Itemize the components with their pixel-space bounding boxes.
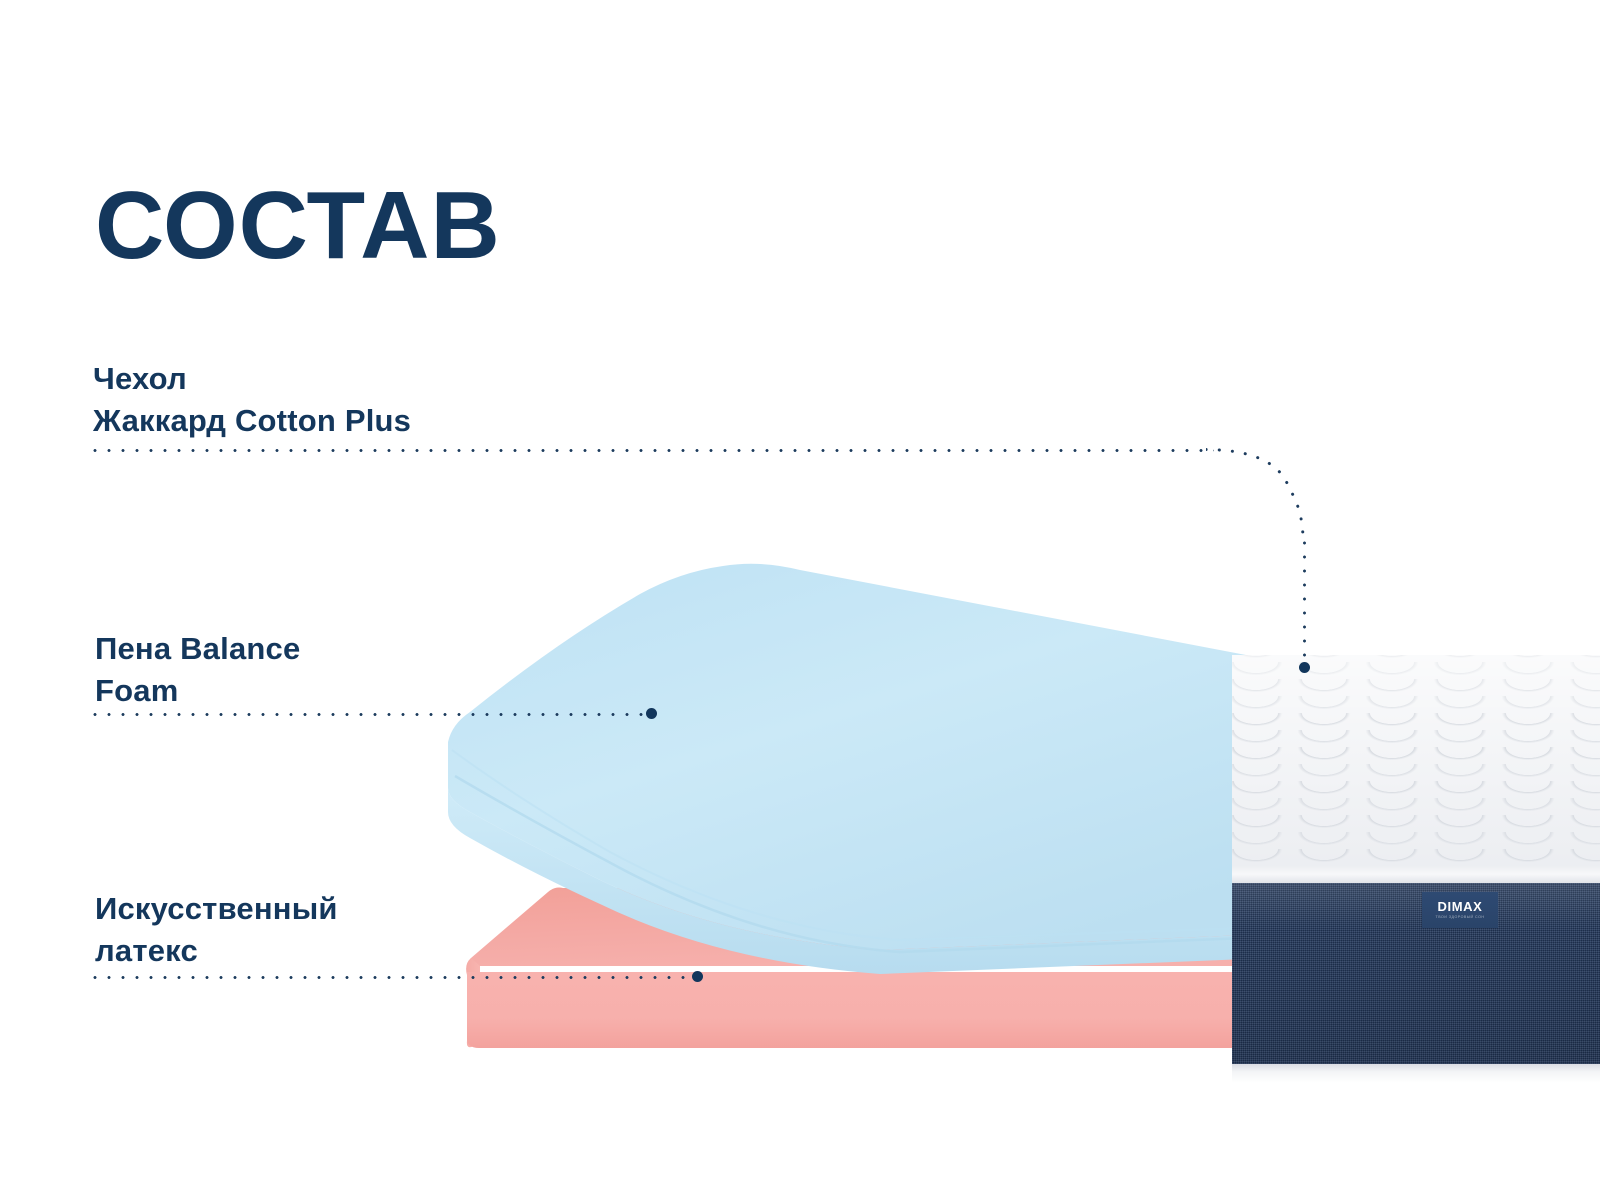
mattress-side-panel: DIMAX ТВОИ ЗДОРОВЫЙ СОН	[1232, 883, 1600, 1066]
cover-piping-top	[1232, 866, 1600, 884]
layer-label-latex: Искусственный латекс	[95, 888, 338, 972]
composition-infographic: СОСТАВ	[0, 0, 1600, 1200]
leader-end-dot-cover	[1299, 662, 1310, 673]
mattress-cover-top	[1232, 655, 1600, 868]
leader-arc-cover	[1206, 448, 1310, 540]
leader-line-cover	[88, 449, 1214, 452]
leader-line-latex	[88, 976, 694, 979]
side-panel-shading	[1232, 883, 1600, 1066]
leader-line-cover-vertical	[1303, 536, 1306, 666]
brand-tagline: ТВОИ ЗДОРОВЫЙ СОН	[1436, 916, 1485, 920]
quilt-shading	[1232, 655, 1600, 868]
mattress-illustration: DIMAX ТВОИ ЗДОРОВЫЙ СОН	[0, 0, 1600, 1200]
cover-piping-bottom	[1232, 1064, 1600, 1083]
brand-name: DIMAX	[1438, 900, 1483, 913]
leader-end-dot-latex	[692, 971, 703, 982]
layer-label-cover: Чехол Жаккард Cotton Plus	[93, 358, 411, 442]
brand-badge: DIMAX ТВОИ ЗДОРОВЫЙ СОН	[1422, 892, 1498, 928]
finished-mattress: DIMAX ТВОИ ЗДОРОВЫЙ СОН	[1232, 655, 1600, 1085]
leader-line-foam	[88, 713, 648, 716]
layer-label-foam: Пена Balance Foam	[95, 628, 300, 712]
leader-end-dot-foam	[646, 708, 657, 719]
